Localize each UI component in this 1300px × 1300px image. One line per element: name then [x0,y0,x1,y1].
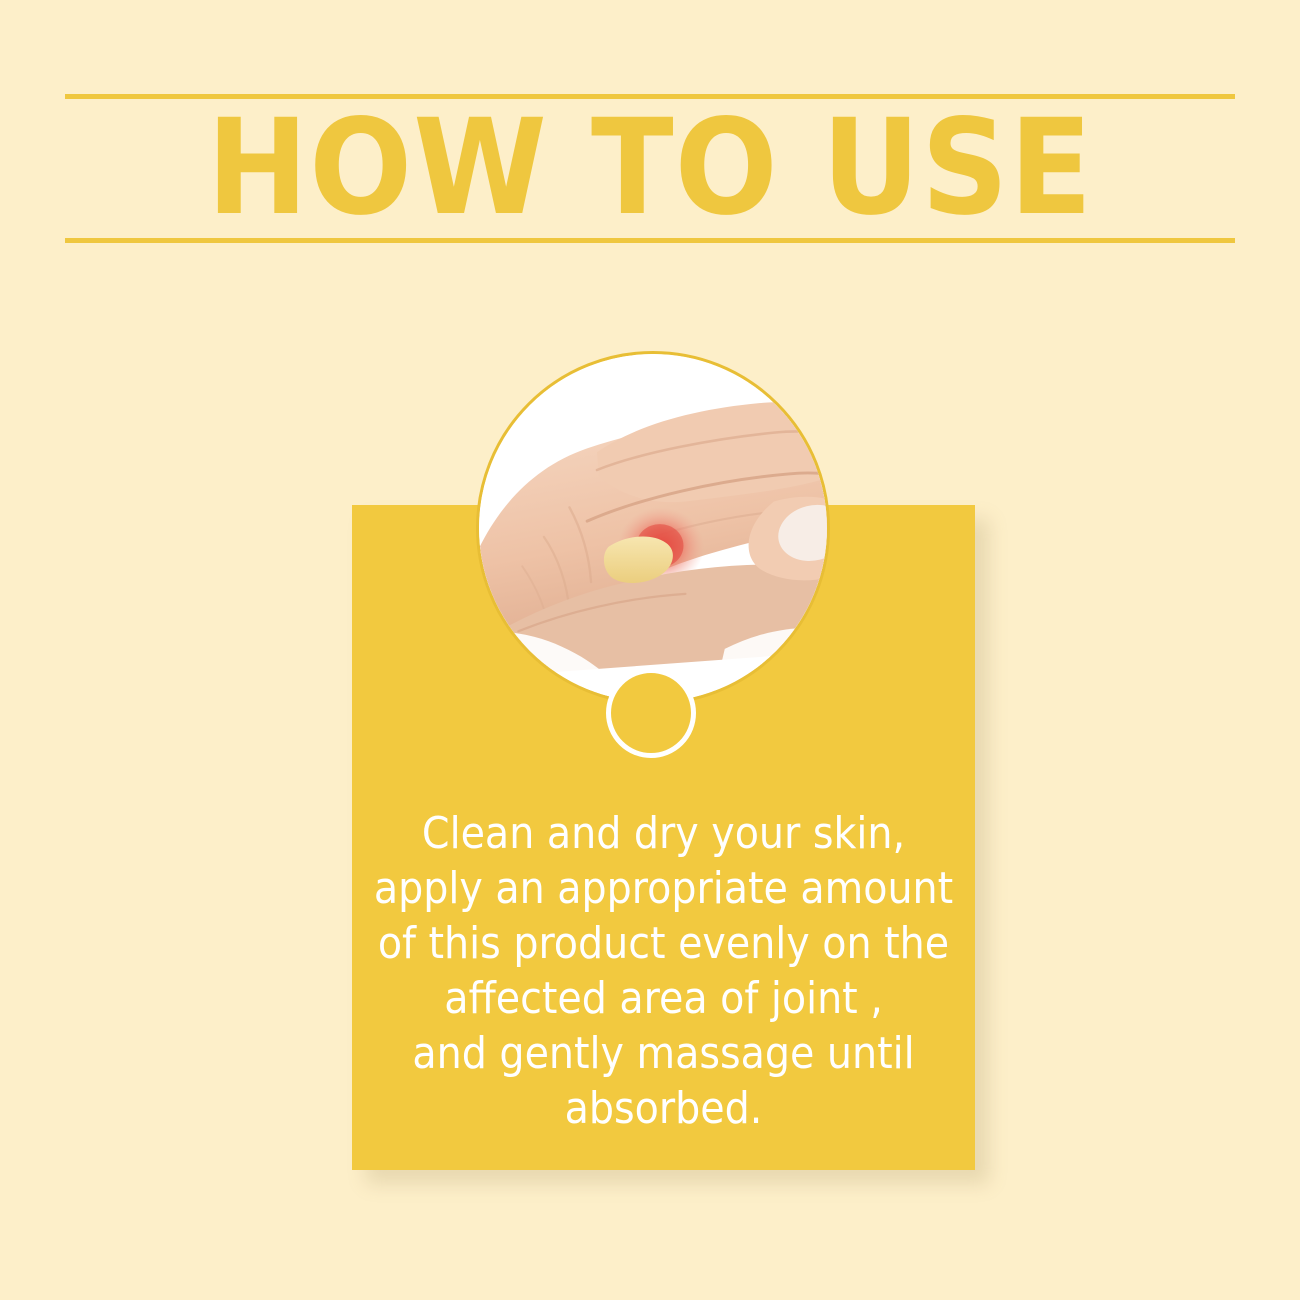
hand-photo-circle [476,351,830,705]
instruction-line: apply an appropriate amount [352,861,975,916]
header-rule-bottom [65,238,1235,243]
hand-with-cream-illustration [479,354,827,702]
how-to-use-infographic: HOW TO USE [0,0,1300,1300]
decorative-circle [606,668,696,758]
instruction-line: Clean and dry your skin, [352,806,975,861]
instruction-line: and gently massage until [352,1026,975,1081]
instruction-line: affected area of joint , [352,971,975,1026]
instruction-line: of this product evenly on the [352,916,975,971]
instruction-text: Clean and dry your skin, apply an approp… [352,806,975,1136]
instruction-line: absorbed. [352,1081,975,1136]
header-section: HOW TO USE [0,0,1300,300]
page-title: HOW TO USE [0,100,1300,236]
